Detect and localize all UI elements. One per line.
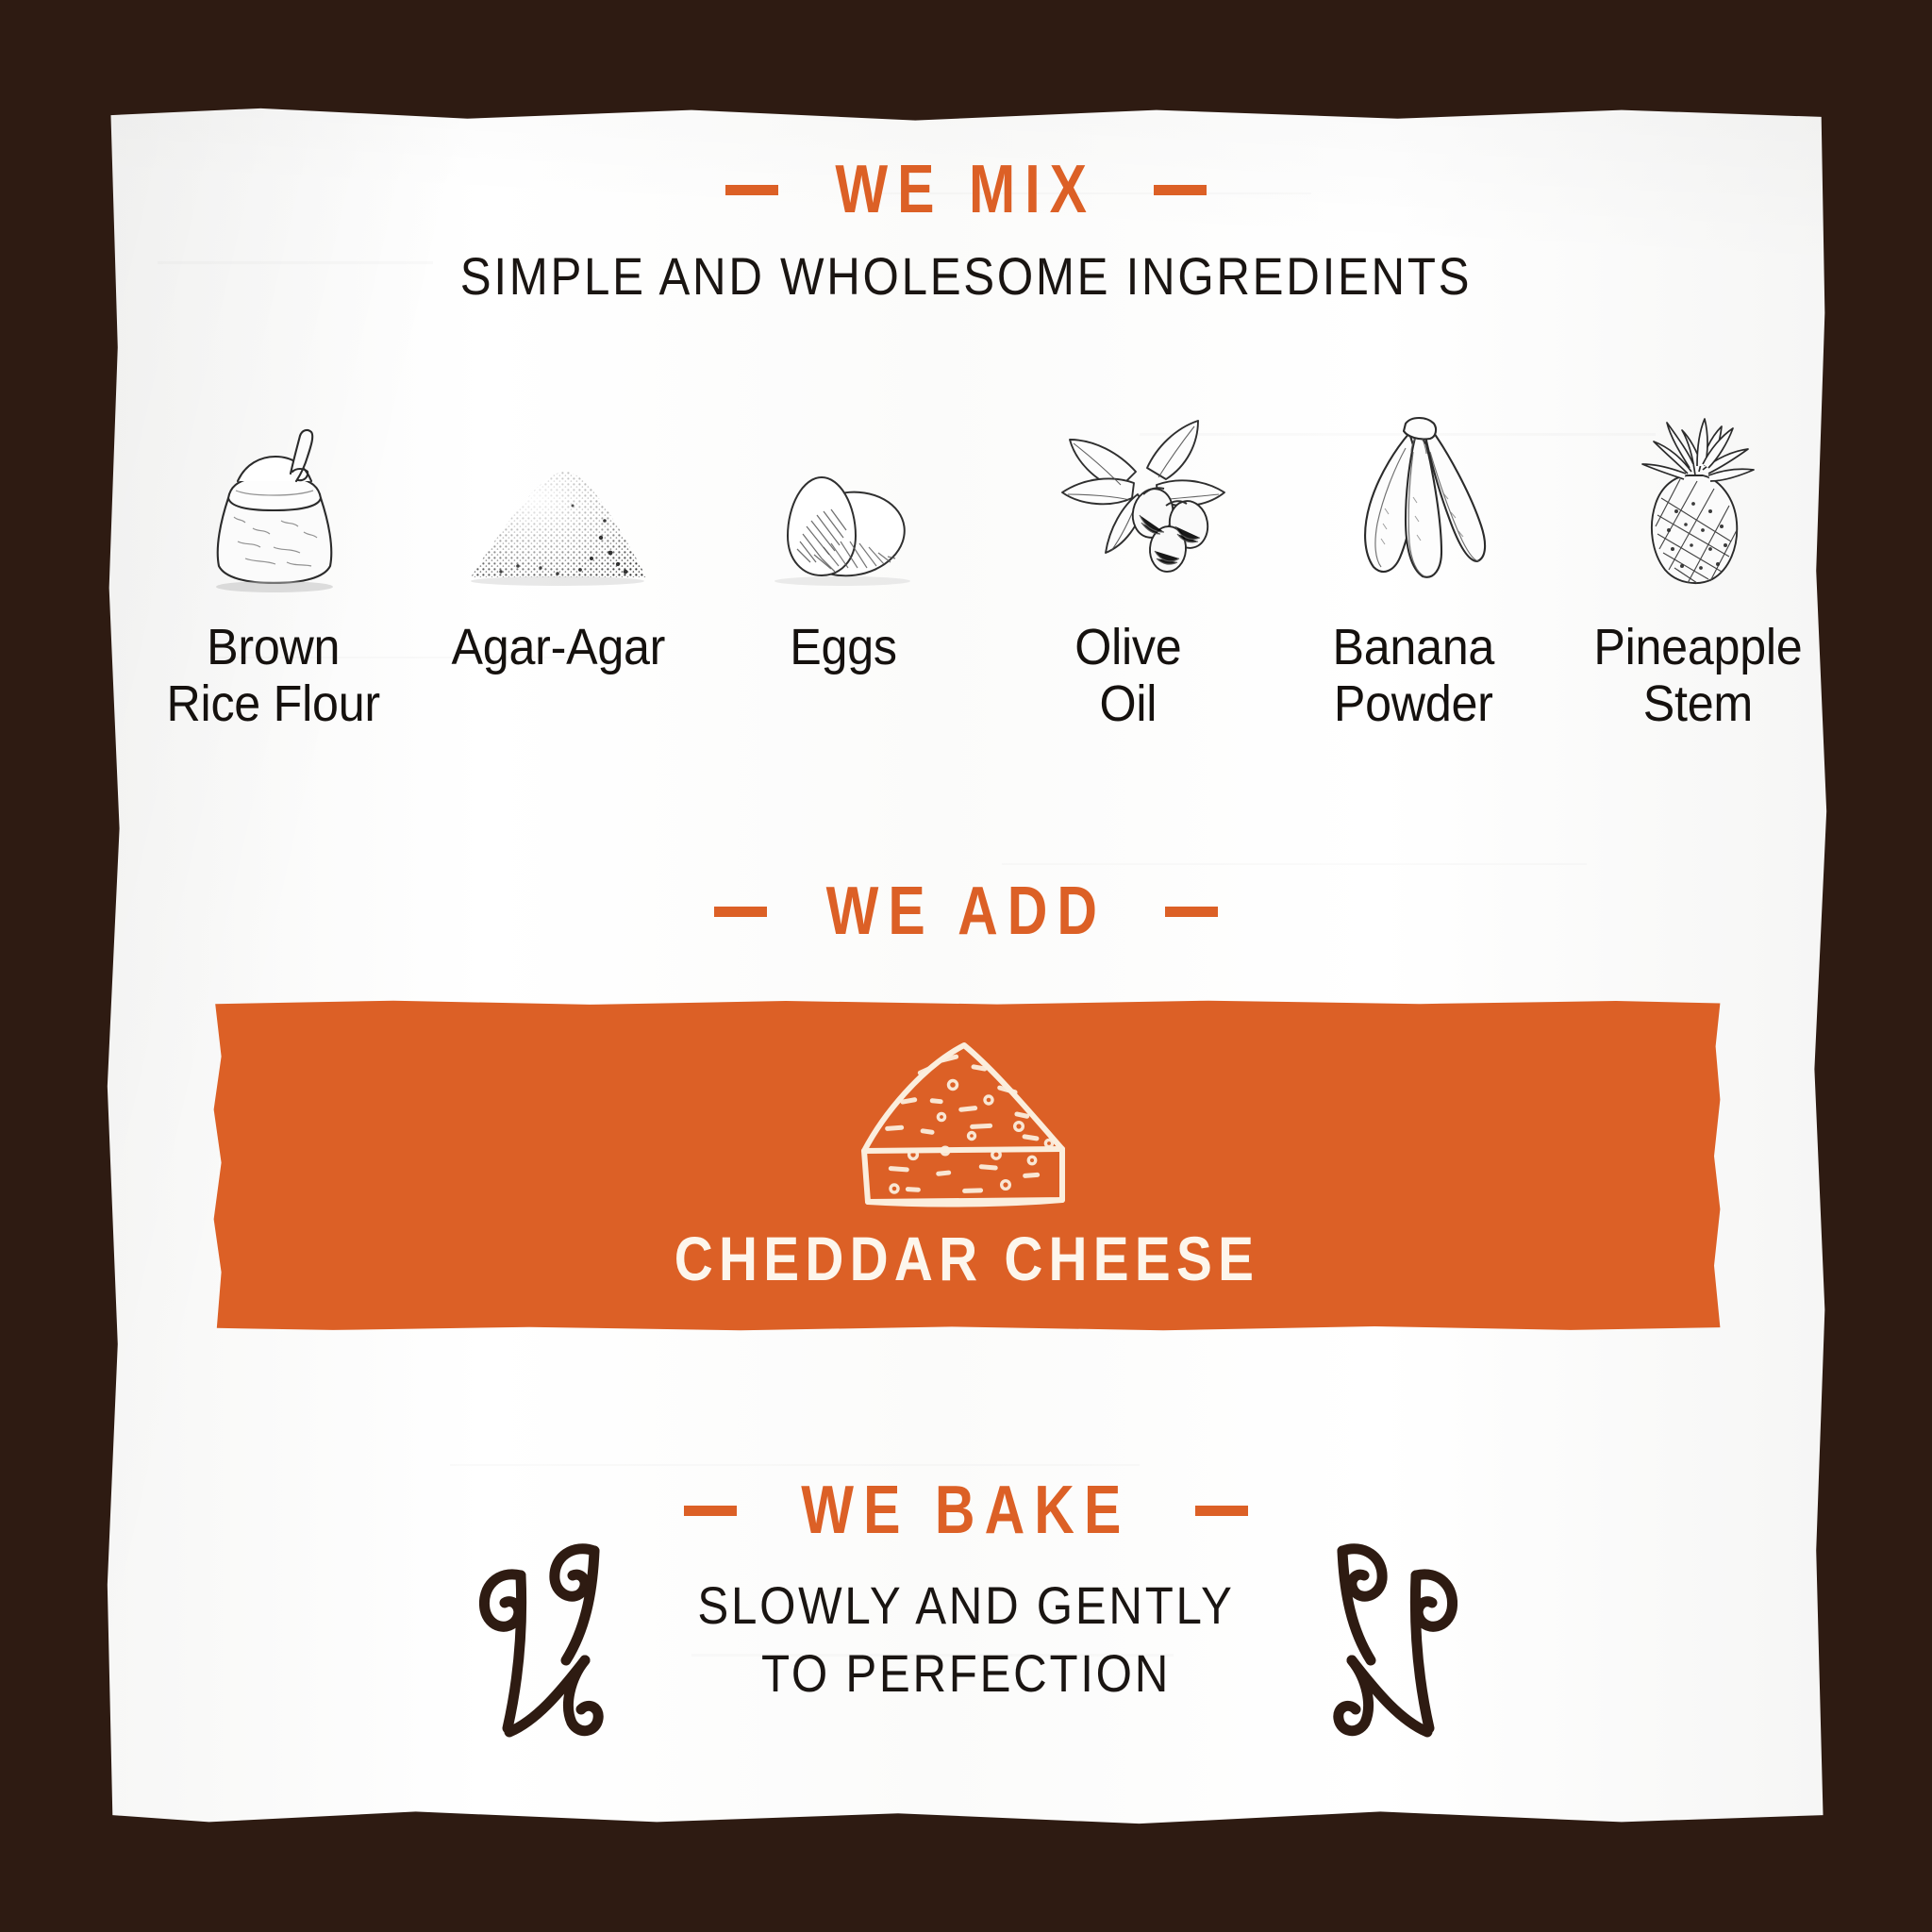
banana-bunch-icon xyxy=(1305,406,1522,594)
ingredient-agar-agar: Agar-Agar xyxy=(426,406,691,675)
we-mix-heading-label: WE MIX xyxy=(836,156,1097,224)
ingredient-label: Brown Rice Flour xyxy=(167,619,380,733)
cheddar-cheese-banner: CHEDDAR CHEESE xyxy=(212,1000,1722,1332)
olive-branch-icon xyxy=(1020,406,1237,594)
ingredient-label: Eggs xyxy=(790,619,896,675)
ingredient-label: Olive Oil xyxy=(1074,619,1181,733)
ingredient-label: Agar-Agar xyxy=(452,619,666,675)
we-add-heading: WE ADD xyxy=(0,877,1932,945)
we-mix-heading: WE MIX xyxy=(0,156,1932,224)
bake-line-1: SLOWLY AND GENTLY xyxy=(116,1572,1816,1640)
powder-mound-icon xyxy=(450,406,667,594)
ingredients-row: Brown Rice Flour xyxy=(142,406,1830,774)
ingredient-brown-rice-flour: Brown Rice Flour xyxy=(142,406,406,733)
cheese-wedge-icon xyxy=(830,1017,1104,1229)
we-mix-subheading: SIMPLE AND WHOLESOME INGREDIENTS xyxy=(116,245,1816,307)
ingredient-pineapple-stem: Pineapple Stem xyxy=(1566,406,1830,733)
bake-line-2: TO PERFECTION xyxy=(116,1640,1816,1707)
ingredient-label: Banana Powder xyxy=(1332,619,1494,733)
ingredient-label: Pineapple Stem xyxy=(1593,619,1802,733)
dash-rule-right-icon xyxy=(1195,1506,1248,1516)
eggs-icon xyxy=(735,406,952,594)
ingredient-eggs: Eggs xyxy=(711,406,975,675)
bake-description: SLOWLY AND GENTLY TO PERFECTION xyxy=(0,1572,1932,1707)
dash-rule-left-icon xyxy=(714,907,767,917)
paper-panel xyxy=(106,107,1828,1825)
dash-rule-right-icon xyxy=(1165,907,1218,917)
dash-rule-left-icon xyxy=(684,1506,737,1516)
cheddar-cheese-label: CHEDDAR CHEESE xyxy=(318,1223,1616,1294)
flour-sack-icon xyxy=(165,406,382,594)
we-bake-heading: WE BAKE xyxy=(0,1476,1932,1544)
dash-rule-left-icon xyxy=(725,185,778,195)
ingredient-olive-oil: Olive Oil xyxy=(996,406,1260,733)
we-add-heading-label: WE ADD xyxy=(825,877,1106,945)
we-bake-heading-label: WE BAKE xyxy=(801,1476,1130,1544)
infographic-canvas: WE MIX SIMPLE AND WHOLESOME INGREDIENTS xyxy=(0,0,1932,1932)
ingredient-banana-powder: Banana Powder xyxy=(1281,406,1545,733)
dash-rule-right-icon xyxy=(1154,185,1207,195)
pineapple-icon xyxy=(1590,406,1807,594)
